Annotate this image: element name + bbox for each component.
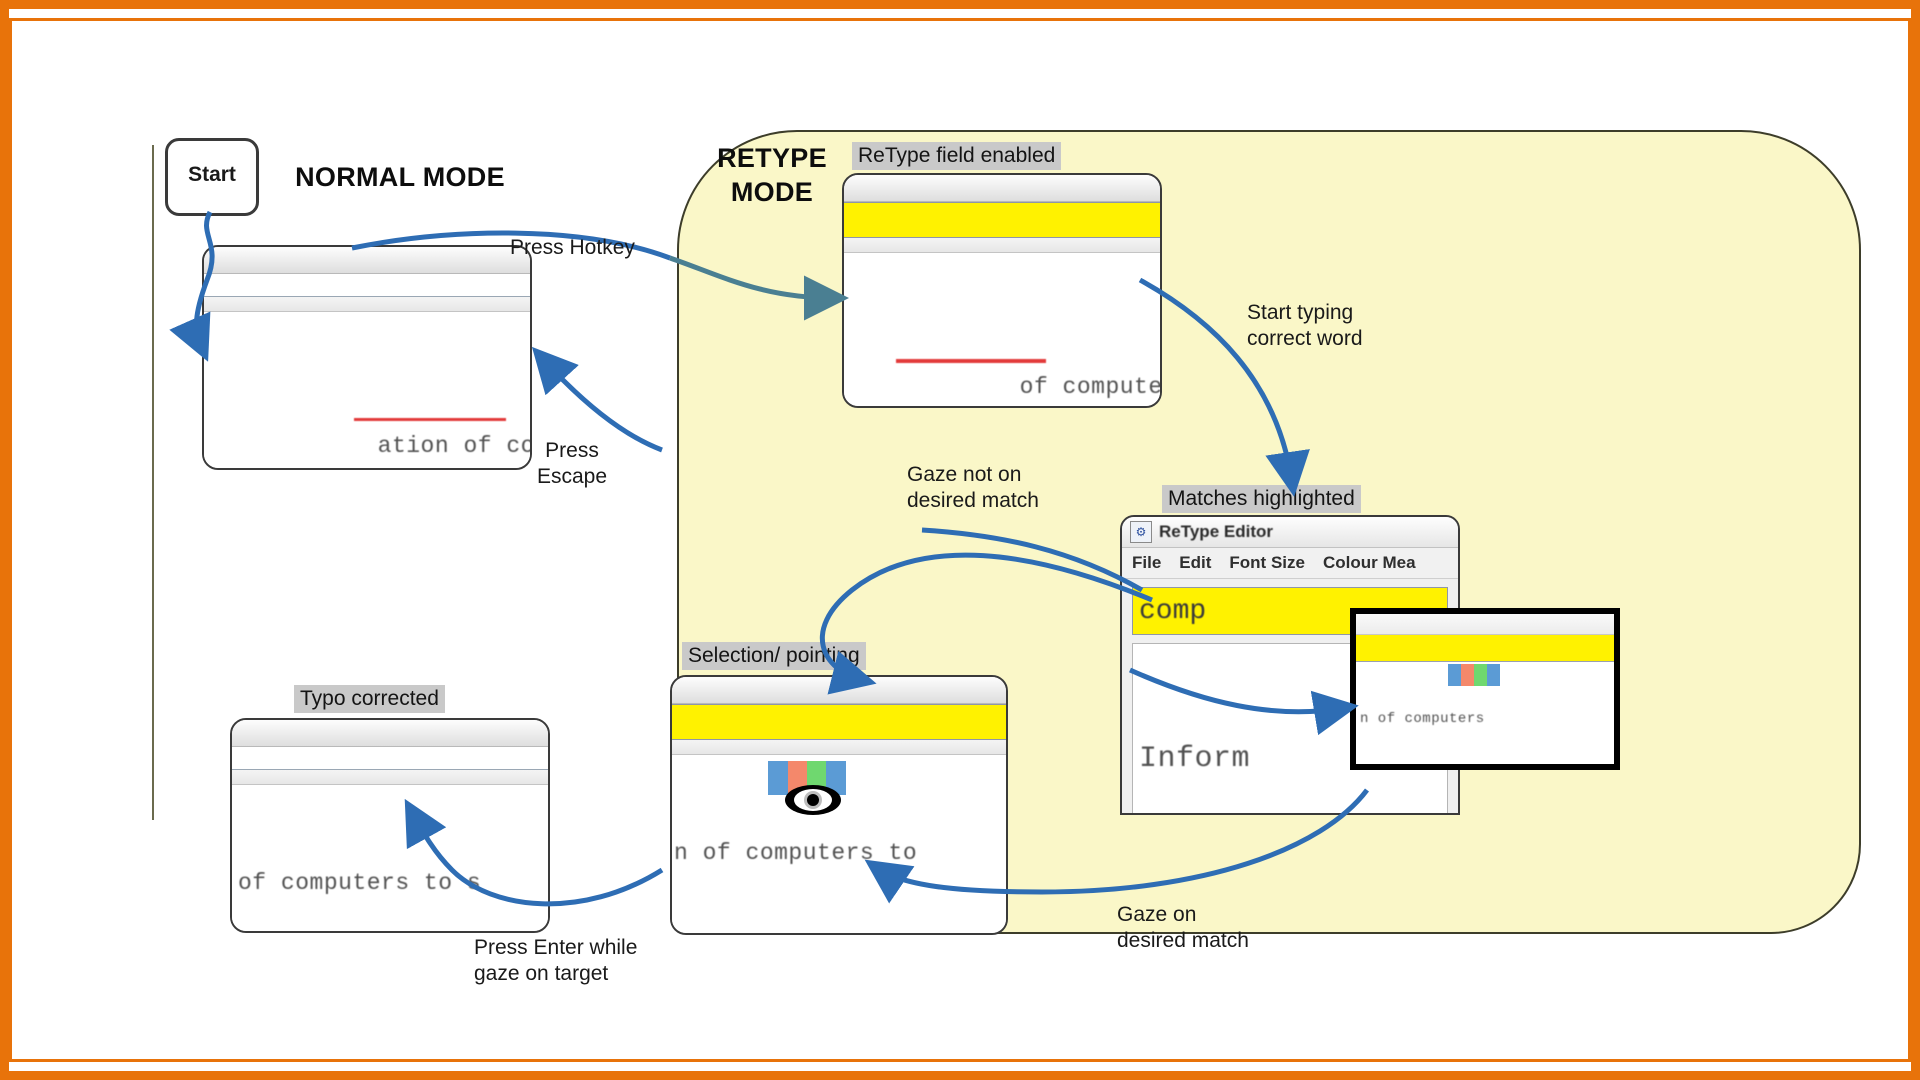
label-gaze-not-on-match: Gaze not on desired match (907, 462, 1039, 515)
menu-item-file[interactable]: File (1132, 553, 1161, 573)
caption-retype-field-enabled: ReType field enabled (852, 142, 1061, 170)
doc-line-text: Inform (1139, 742, 1250, 776)
label-gaze-on-match: Gaze on desired match (1117, 902, 1249, 955)
retype-field-enabled-card: of computers to sto ion, often in the co… (842, 173, 1162, 408)
spellcheck-underline (896, 359, 1046, 363)
document-body: n of computers to tion, often in th set … (672, 755, 1006, 935)
retype-editor-titlebar: ⚙ ReType Editor (1122, 517, 1458, 548)
doc-line-text: of computers to sto (1020, 374, 1162, 400)
doc-line-text: of computers to s (238, 870, 481, 896)
eye-icon (784, 783, 842, 817)
ruler-strip (672, 740, 1006, 755)
titlebar (204, 247, 530, 274)
toolbar (232, 747, 548, 770)
label-press-escape: Press Escape (522, 438, 622, 491)
retype-input-bar[interactable] (844, 202, 1160, 238)
retype-search-value: comp (1139, 596, 1206, 627)
spellcheck-underline (354, 418, 506, 421)
normal-mode-document-card: ation of computers ormation, often in th… (202, 245, 532, 470)
ruler-strip (204, 297, 530, 312)
label-press-hotkey: Press Hotkey (510, 235, 635, 261)
popup-retype-bar[interactable] (1356, 635, 1614, 662)
start-node: Start (165, 138, 259, 216)
start-label: Start (168, 163, 256, 187)
ruler-strip (844, 238, 1160, 253)
doc-line: n of computers to (674, 835, 1006, 871)
left-vertical-rule (152, 145, 154, 820)
arrow-press-escape (542, 358, 662, 450)
retype-editor-menubar: File Edit Font Size Colour Mea (1122, 548, 1458, 579)
titlebar (844, 175, 1160, 202)
app-icon: ⚙ (1130, 521, 1152, 543)
titlebar (672, 677, 1006, 704)
typo-corrected-card: of computers to s on, often in the t of … (230, 718, 550, 933)
popup-document: n of computers tion, often in t set of i… (1356, 662, 1614, 762)
caption-typo-corrected: Typo corrected (294, 685, 445, 713)
doc-line: n of computers (1360, 708, 1614, 730)
menu-item-edit[interactable]: Edit (1179, 553, 1211, 573)
selection-pointing-card: n of computers to tion, often in th set … (670, 675, 1008, 935)
caption-matches-highlighted: Matches highlighted (1162, 485, 1361, 513)
figure-root: RETYPE MODE Start NORMAL MODE ation of c… (0, 0, 1920, 1080)
retype-mode-title: RETYPE MODE (712, 142, 832, 210)
doc-line-text: n of computers (1360, 711, 1485, 727)
doc-line: ation of computers (206, 392, 530, 470)
normal-mode-title: NORMAL MODE (265, 162, 535, 193)
document-body: ation of computers ormation, often in th… (204, 312, 530, 470)
retype-editor-title: ReType Editor (1159, 522, 1273, 542)
titlebar (232, 720, 548, 747)
caption-selection-pointing: Selection/ pointing (682, 642, 866, 670)
menu-item-font-size[interactable]: Font Size (1229, 553, 1305, 573)
retype-input-bar[interactable] (672, 704, 1006, 740)
zoom-popup: n of computers tion, often in t set of i… (1350, 608, 1620, 770)
doc-line-text: n of computers to (674, 840, 917, 866)
popup-titlebar (1356, 614, 1614, 635)
menu-item-colour[interactable]: Colour Mea (1323, 553, 1416, 573)
label-press-enter: Press Enter while gaze on target (474, 935, 637, 988)
document-body: of computers to sto ion, often in the co… (844, 253, 1160, 408)
doc-line: of computers to s (238, 865, 548, 901)
toolbar (204, 274, 530, 297)
ruler-strip (232, 770, 548, 785)
document-body: of computers to s on, often in the t of … (232, 785, 548, 933)
doc-line-text: ation of computers (378, 433, 532, 459)
diagram-canvas: RETYPE MODE Start NORMAL MODE ation of c… (22, 30, 1898, 1050)
doc-line: of computers to sto (848, 333, 1160, 408)
label-start-typing: Start typing correct word (1247, 300, 1363, 353)
